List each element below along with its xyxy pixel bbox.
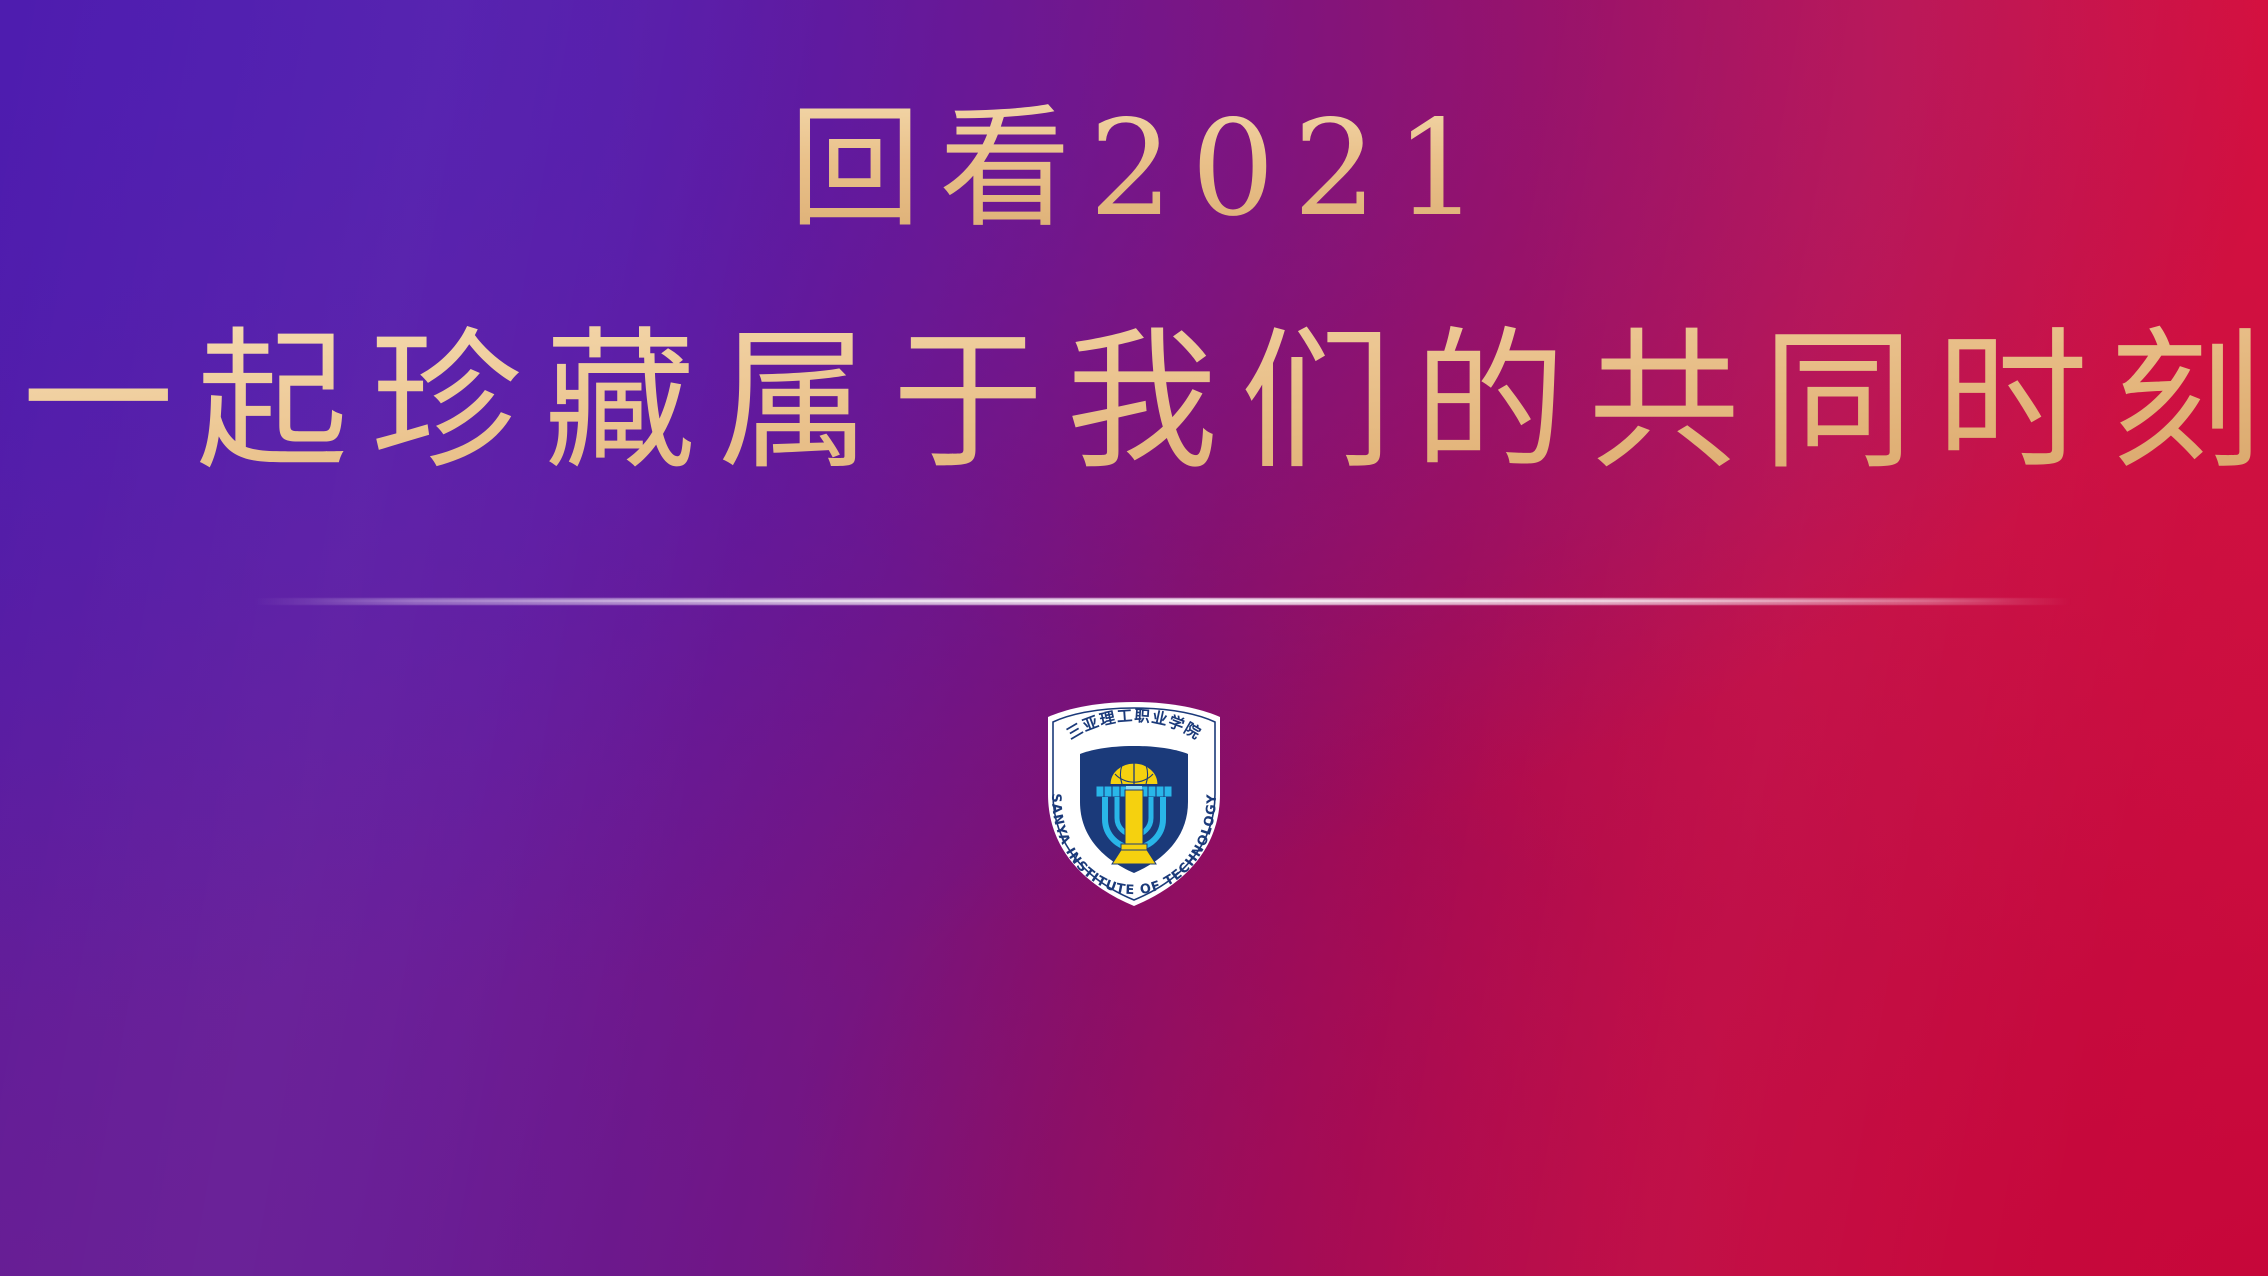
poster-content: 回看2021 一起珍藏属于我们的共同时刻 [0,0,2268,1276]
poster-canvas: 回看2021 一起珍藏属于我们的共同时刻 [0,0,2268,1276]
page-subtitle: 一起珍藏属于我们的共同时刻 [0,318,2268,485]
university-logo: 三亚理工职业学院 SANYA INSTITUTE OF TECHNOLOGY [1036,698,1232,910]
divider-rule [252,598,2072,605]
page-title: 回看2021 [0,92,2268,248]
shield-logo-icon: 三亚理工职业学院 SANYA INSTITUTE OF TECHNOLOGY [1036,698,1232,910]
